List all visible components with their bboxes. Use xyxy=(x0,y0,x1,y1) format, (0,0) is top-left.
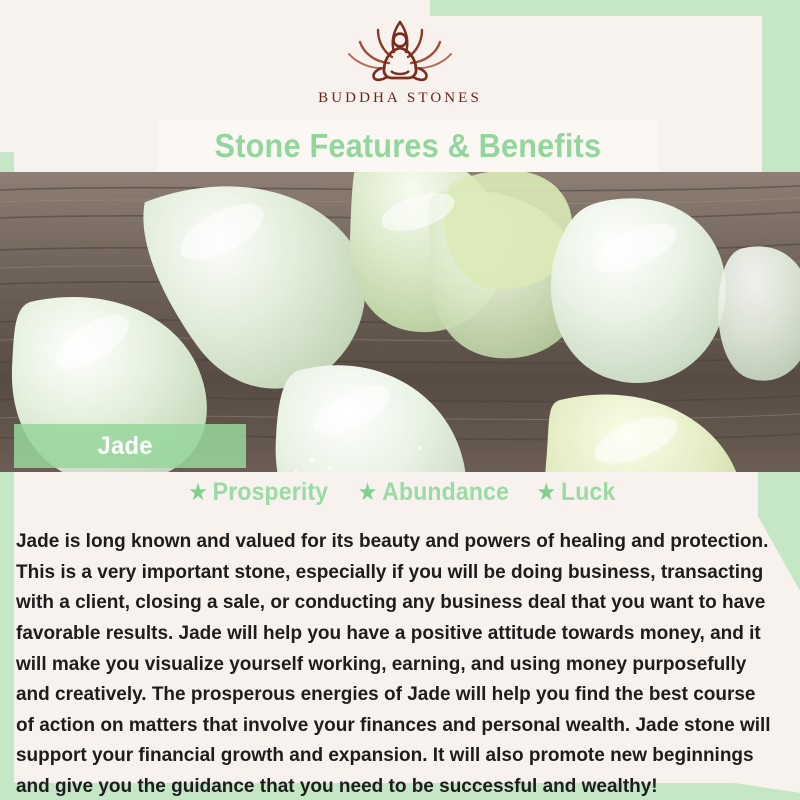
stone-description: Jade is long known and valued for its be… xyxy=(16,527,776,800)
benefits-row: ★Prosperity★Abundance★Luck xyxy=(0,478,800,507)
lotus-meditation-icon xyxy=(344,16,456,88)
benefit-label-1: Abundance xyxy=(382,478,509,506)
benefit-item-0: ★Prosperity xyxy=(188,478,328,507)
star-icon: ★ xyxy=(536,479,556,506)
brand-name: BUDDHA STONES xyxy=(318,90,482,107)
benefit-label-0: Prosperity xyxy=(212,478,328,506)
benefit-item-2: ★Luck xyxy=(536,478,615,507)
stone-name-label: Jade xyxy=(97,432,152,461)
benefit-label-2: Luck xyxy=(561,478,615,506)
benefit-item-1: ★Abundance xyxy=(358,478,509,507)
brand-logo: BUDDHA STONES xyxy=(0,16,800,120)
star-icon: ★ xyxy=(188,479,208,506)
stone-info-card: BUDDHA STONES Stone Features & Benefits xyxy=(0,0,800,800)
stone-name-tag: Jade xyxy=(14,424,246,468)
title-banner: Stone Features & Benefits xyxy=(158,120,658,172)
star-icon: ★ xyxy=(358,479,378,506)
decor-band-top-right xyxy=(430,0,800,16)
page-title: Stone Features & Benefits xyxy=(215,127,602,165)
